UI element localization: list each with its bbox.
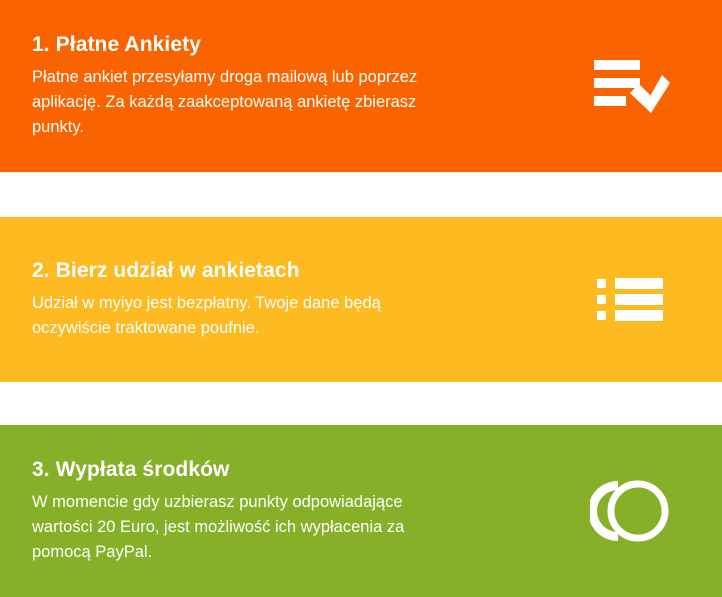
- coins-icon: [584, 472, 676, 550]
- checklist-check-icon: [584, 47, 676, 125]
- step-3-text-block: 3. Wypłata środków W momencie gdy uzbier…: [32, 457, 584, 565]
- step-3-title: 3. Wypłata środków: [32, 457, 572, 483]
- step-gap-2: [0, 382, 722, 425]
- step-1-body: Płatne ankiet przesyłamy droga mailową l…: [32, 65, 462, 140]
- step-2-title: 2. Bierz udział w ankietach: [32, 258, 572, 284]
- step-2-body: Udział w myiyo jest bezpłatny. Twoje dan…: [32, 291, 462, 341]
- step-card-1: 1. Płatne Ankiety Płatne ankiet przesyła…: [0, 0, 722, 172]
- step-2-text-block: 2. Bierz udział w ankietach Udział w myi…: [32, 258, 584, 341]
- bulleted-list-icon: [584, 261, 676, 339]
- step-3-body: W momencie gdy uzbierasz punkty odpowiad…: [32, 490, 462, 565]
- step-gap-1: [0, 172, 722, 217]
- step-1-title: 1. Płatne Ankiety: [32, 32, 572, 58]
- step-card-2: 2. Bierz udział w ankietach Udział w myi…: [0, 217, 722, 382]
- steps-list: 1. Płatne Ankiety Płatne ankiet przesyła…: [0, 0, 722, 597]
- step-card-3: 3. Wypłata środków W momencie gdy uzbier…: [0, 425, 722, 597]
- step-1-text-block: 1. Płatne Ankiety Płatne ankiet przesyła…: [32, 32, 584, 140]
